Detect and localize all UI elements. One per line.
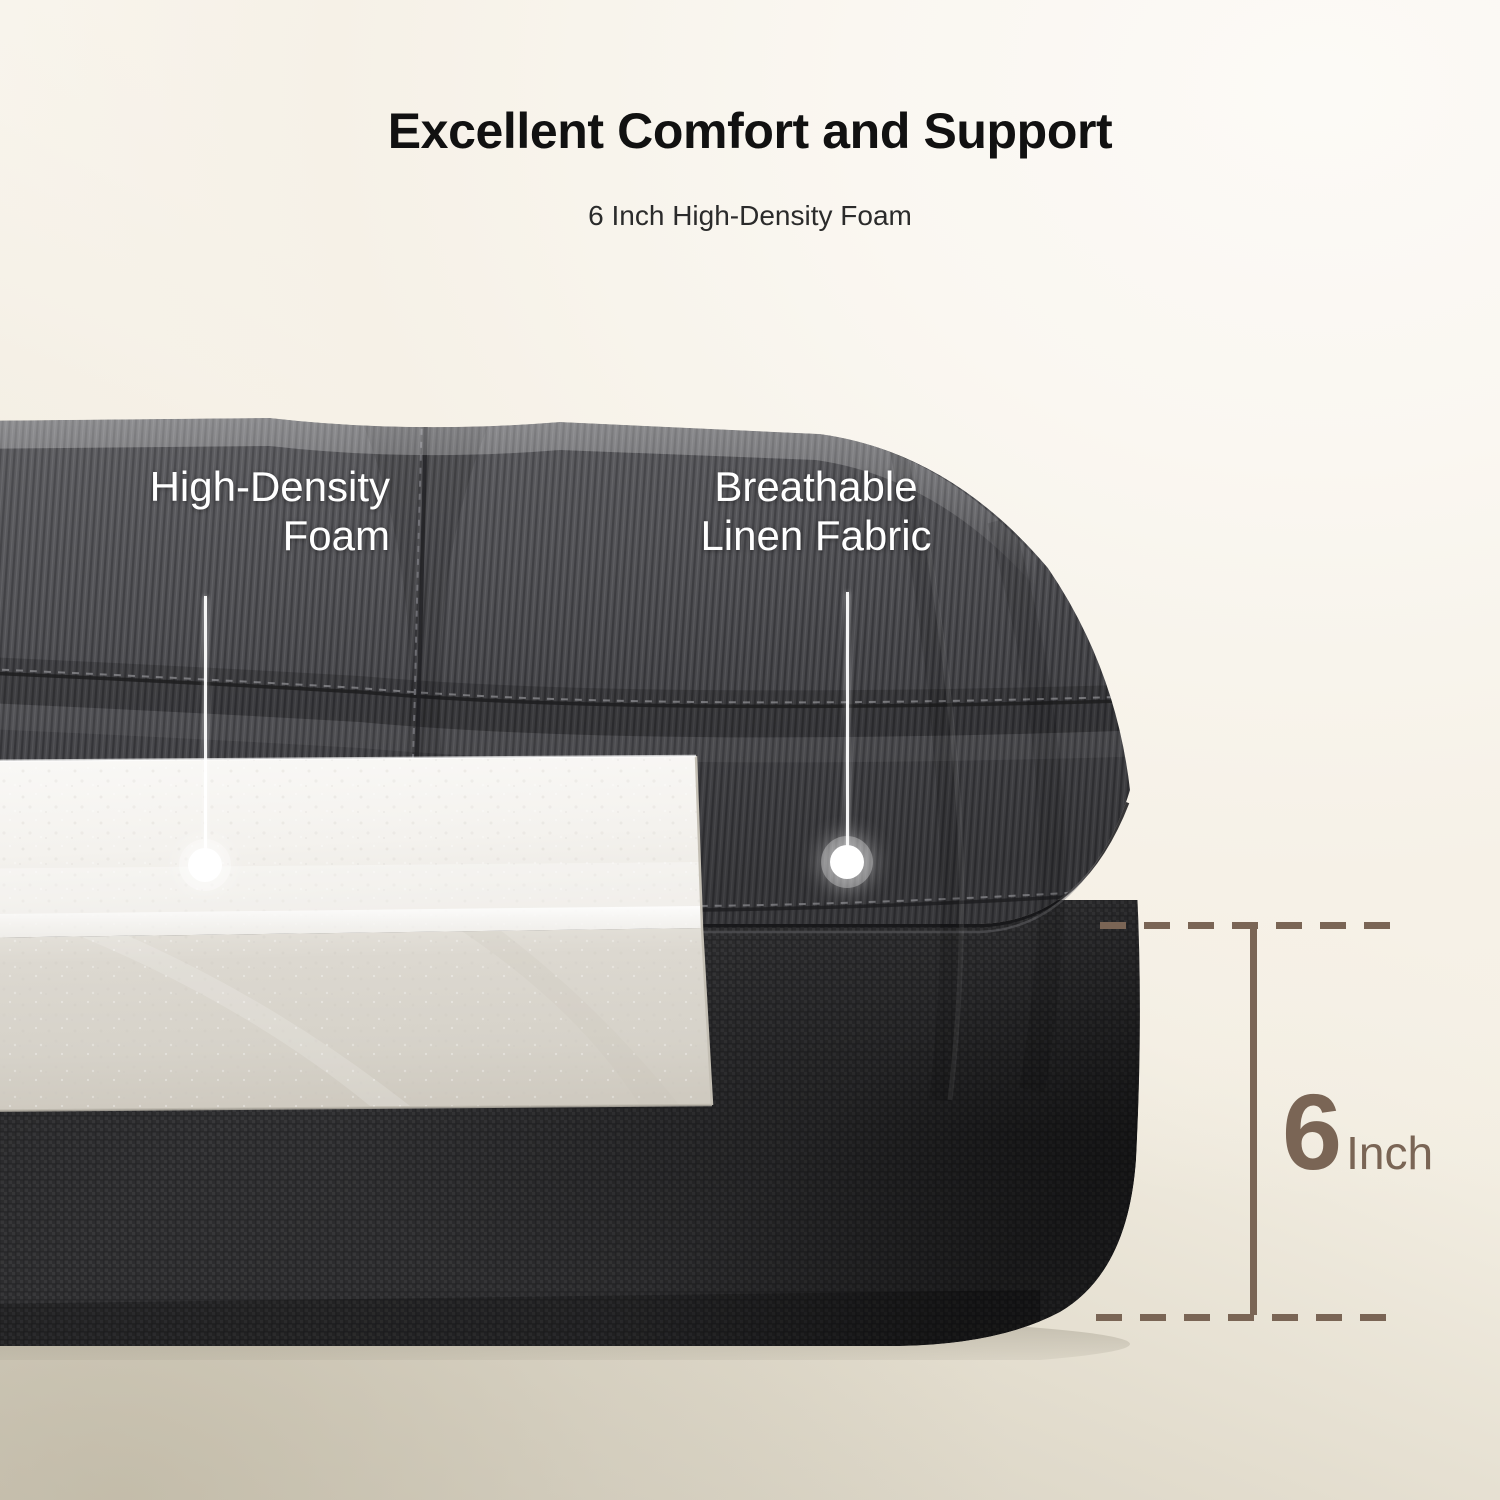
callout-breathable-linen-fabric-label: Breathable Linen Fabric (646, 462, 986, 560)
callout-breathable-linen-fabric-leader-line (846, 592, 849, 864)
page-subtitle: 6 Inch High-Density Foam (0, 202, 1500, 230)
page-title: Excellent Comfort and Support (0, 106, 1500, 156)
dimension-label: 6 Inch (1282, 1078, 1433, 1186)
dimension-guide-line-bottom (1096, 1314, 1390, 1321)
dimension-guide-line-top (1100, 922, 1390, 929)
callout-high-density-foam-leader-line (204, 596, 207, 864)
callout-high-density-foam-label: High-Density Foam (40, 462, 390, 560)
callout-high-density-foam-dot-marker (188, 848, 222, 882)
dimension-unit: Inch (1346, 1130, 1433, 1176)
dimension-value: 6 (1282, 1078, 1340, 1186)
callout-breathable-linen-fabric-dot-marker (830, 845, 864, 879)
foam-front-face (0, 920, 760, 1130)
product-infographic: Excellent Comfort and Support 6 Inch Hig… (0, 0, 1500, 1500)
dimension-measure-line (1250, 925, 1257, 1315)
header-block: Excellent Comfort and Support 6 Inch Hig… (0, 0, 1500, 230)
